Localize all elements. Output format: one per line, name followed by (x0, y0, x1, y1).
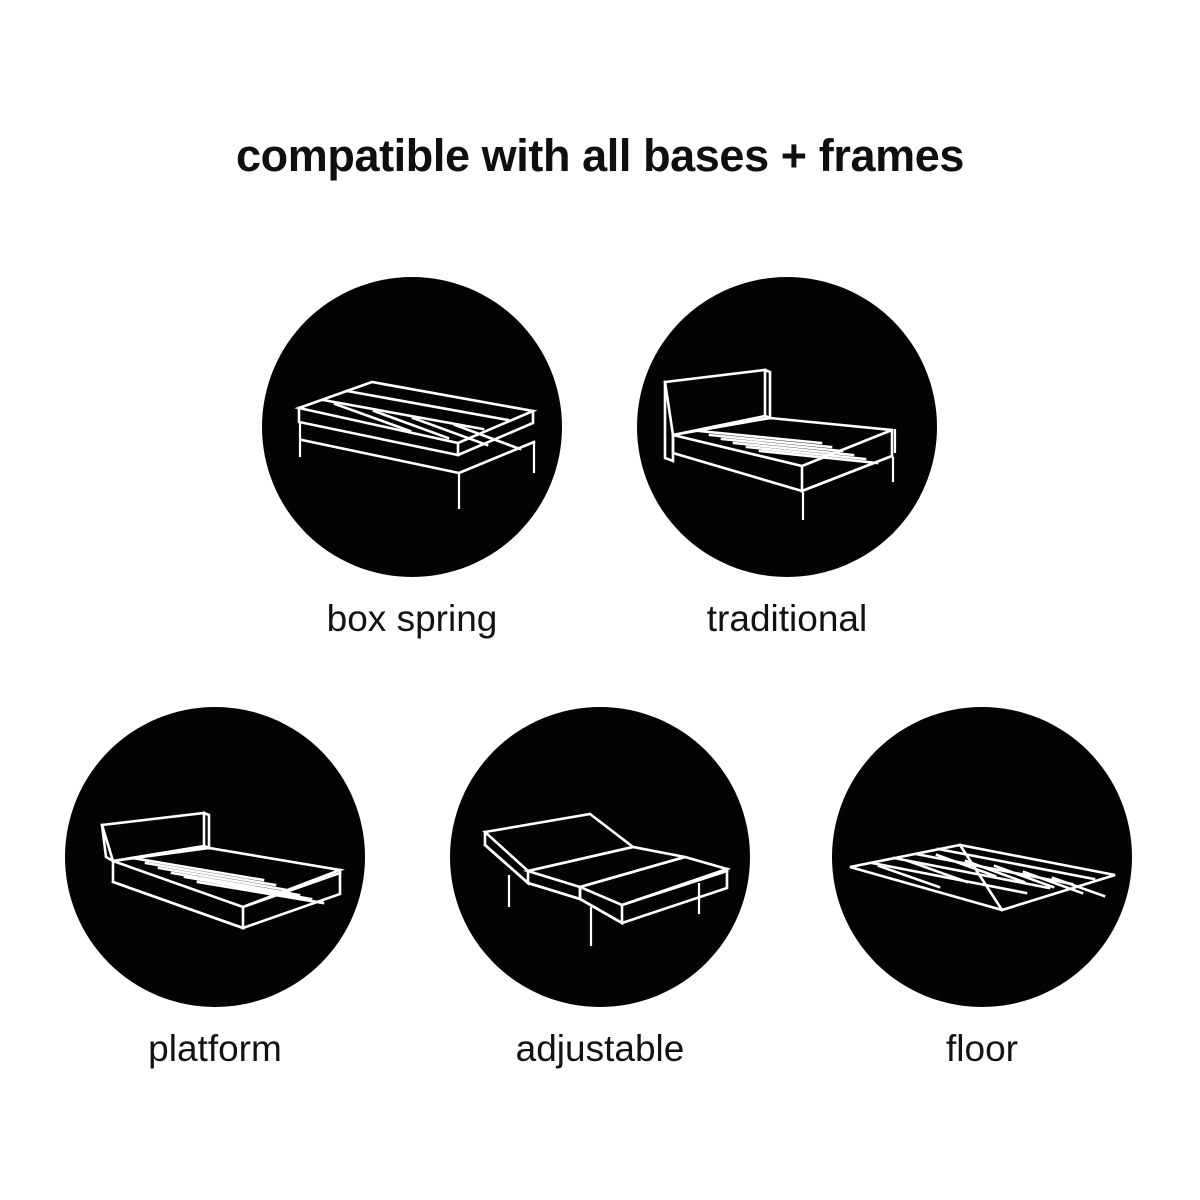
base-label-platform: platform (65, 1030, 365, 1067)
base-item-adjustable: adjustable (450, 707, 750, 1067)
base-label-floor: floor (832, 1030, 1132, 1067)
box-spring-bed-base-icon (262, 277, 562, 577)
base-badge-traditional (637, 277, 937, 577)
traditional-bed-frame-icon (637, 277, 937, 577)
base-label-traditional: traditional (637, 600, 937, 637)
adjustable-bed-base-icon (450, 707, 750, 1007)
base-label-adjustable: adjustable (450, 1030, 750, 1067)
base-badge-box-spring (262, 277, 562, 577)
base-label-box-spring: box spring (262, 600, 562, 637)
page-title: compatible with all bases + frames (0, 132, 1200, 179)
base-badge-platform (65, 707, 365, 1007)
compatible-bases-infographic: compatible with all bases + frames (0, 0, 1200, 1200)
base-badge-adjustable (450, 707, 750, 1007)
base-item-platform: platform (65, 707, 365, 1067)
base-badge-floor (832, 707, 1132, 1007)
base-item-traditional: traditional (637, 277, 937, 637)
platform-bed-icon (65, 707, 365, 1007)
base-item-floor: floor (832, 707, 1132, 1067)
base-item-box-spring: box spring (262, 277, 562, 637)
floor-slat-mat-icon (832, 707, 1132, 1007)
